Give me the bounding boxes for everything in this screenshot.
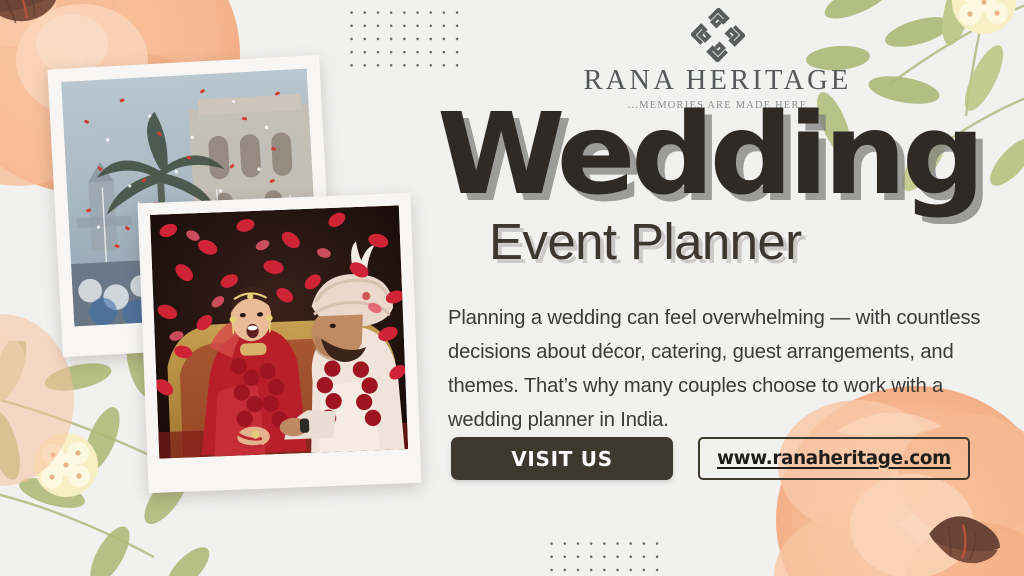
wedding-planner-poster: RANA HERITAGE ...MEMORIES ARE MADE HERE … [0, 0, 1024, 576]
website-button[interactable]: www.ranaheritage.com [698, 437, 970, 480]
butterfly-icon [0, 0, 62, 31]
cream-flower-icon [34, 433, 98, 497]
cta-row: VISIT US www.ranaheritage.com [451, 437, 970, 480]
description-paragraph: Planning a wedding can feel overwhelming… [448, 301, 988, 437]
website-url-label: www.ranaheritage.com [717, 448, 951, 469]
wedding-photo-front-image [150, 205, 408, 458]
page-title: Wedding [437, 104, 981, 207]
page-subtitle: Event Planner [489, 216, 802, 267]
endless-knot-diamond-icon [691, 8, 745, 62]
poster-content: RANA HERITAGE ...MEMORIES ARE MADE HERE … [445, 0, 990, 576]
wedding-photo-front [138, 193, 422, 493]
visit-us-button[interactable]: VISIT US [451, 437, 673, 480]
